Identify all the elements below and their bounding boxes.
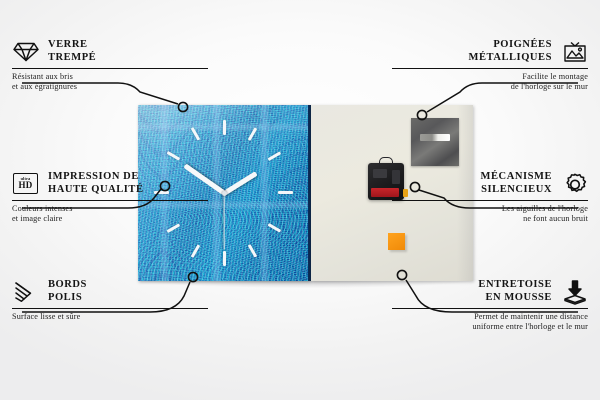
feature-title-line2: MÉTALLIQUES (469, 52, 552, 65)
feature-description: Les aiguilles de l'horloge ne font aucun… (392, 204, 588, 224)
feature-header: MÉCANISME SILENCIEUX (392, 170, 588, 197)
tick-mark (223, 120, 226, 135)
mechanism-hook (379, 157, 393, 165)
feature-title-line1: POIGNÉES (469, 39, 552, 52)
foam-spacer-arrow-icon (561, 278, 588, 305)
feature-header: ENTRETOISE EN MOUSSE (392, 278, 588, 305)
feature-desc-line1: Les aiguilles de l'horloge (392, 204, 588, 214)
feature-title: VERRE TREMPÉ (48, 39, 96, 64)
feature-title: IMPRESSION DE HAUTE QUALITÉ (48, 171, 144, 196)
feature-description: Surface lisse et sûre (12, 312, 208, 322)
feature-title-line2: EN MOUSSE (478, 292, 552, 305)
feature-divider (392, 308, 588, 309)
feature-title-line1: VERRE (48, 39, 96, 52)
feature-description: Facilite le montage de l'horloge sur le … (392, 72, 588, 92)
feature-title: BORDS POLIS (48, 279, 87, 304)
feature-title-line2: TREMPÉ (48, 52, 96, 65)
ultra-hd-badge-icon: ultra HD (12, 170, 39, 197)
feature-title-line1: ENTRETOISE (478, 279, 552, 292)
tick-mark (278, 191, 293, 194)
feature-desc-line2: et image claire (12, 214, 208, 224)
metal-hanger-plate (411, 118, 459, 166)
feature-callout-entretoise: ENTRETOISE EN MOUSSE Permet de maintenir… (392, 278, 588, 332)
feature-title-line2: POLIS (48, 292, 87, 305)
clock-hand-cap (222, 191, 227, 196)
feature-title-line1: MÉCANISME (481, 171, 552, 184)
feature-divider (12, 200, 208, 201)
feature-title: POIGNÉES MÉTALLIQUES (469, 39, 552, 64)
hanger-slot (420, 134, 450, 141)
mechanism-detail (373, 169, 387, 178)
feature-header: BORDS POLIS (12, 278, 208, 305)
feature-desc-line1: Permet de maintenir une distance (392, 312, 588, 322)
feature-description: Permet de maintenir une distance uniform… (392, 312, 588, 332)
hd-badge-hd-label: HD (19, 181, 33, 190)
feature-callout-bords-polis: BORDS POLIS Surface lisse et sûre (12, 278, 208, 322)
clock-second-hand (223, 194, 224, 250)
feature-callout-poignees: POIGNÉES MÉTALLIQUES Facilite le montage… (392, 38, 588, 92)
feature-header: POIGNÉES MÉTALLIQUES (392, 38, 588, 65)
feature-divider (392, 68, 588, 69)
feature-title: ENTRETOISE EN MOUSSE (478, 279, 552, 304)
feature-header: VERRE TREMPÉ (12, 38, 208, 65)
foam-spacer (388, 233, 405, 250)
infographic-canvas: VERRE TREMPÉ Résistant aux bris et aux é… (0, 0, 600, 400)
feature-callout-mecanisme: MÉCANISME SILENCIEUX Les aiguilles de l'… (392, 170, 588, 224)
tick-mark (223, 251, 226, 266)
polished-edges-icon (12, 278, 39, 305)
feature-desc-line2: de l'horloge sur le mur (392, 82, 588, 92)
feature-desc-line1: Couleurs intenses (12, 204, 208, 214)
feature-description: Résistant aux bris et aux égratignures (12, 72, 208, 92)
feature-divider (392, 200, 588, 201)
wall-hanger-frame-icon (561, 38, 588, 65)
feature-title-line1: BORDS (48, 279, 87, 292)
feature-title-line1: IMPRESSION DE (48, 171, 144, 184)
feature-title-line2: SILENCIEUX (481, 184, 552, 197)
feature-desc-line2: ne font aucun bruit (392, 214, 588, 224)
feature-description: Couleurs intenses et image claire (12, 204, 208, 224)
feature-desc-line1: Facilite le montage (392, 72, 588, 82)
feature-title-line2: HAUTE QUALITÉ (48, 184, 144, 197)
gear-icon (561, 170, 588, 197)
feature-title: MÉCANISME SILENCIEUX (481, 171, 552, 196)
hd-badge: ultra HD (13, 173, 38, 194)
feature-desc-line1: Résistant aux bris (12, 72, 208, 82)
feature-desc-line1: Surface lisse et sûre (12, 312, 208, 322)
feature-divider (12, 68, 208, 69)
feature-divider (12, 308, 208, 309)
diamond-icon (12, 38, 39, 65)
feature-desc-line2: et aux égratignures (12, 82, 208, 92)
feature-header: ultra HD IMPRESSION DE HAUTE QUALITÉ (12, 170, 208, 197)
feature-callout-impression: ultra HD IMPRESSION DE HAUTE QUALITÉ Cou… (12, 170, 208, 224)
feature-desc-line2: uniforme entre l'horloge et le mur (392, 322, 588, 332)
feature-callout-verre-trempe: VERRE TREMPÉ Résistant aux bris et aux é… (12, 38, 208, 92)
